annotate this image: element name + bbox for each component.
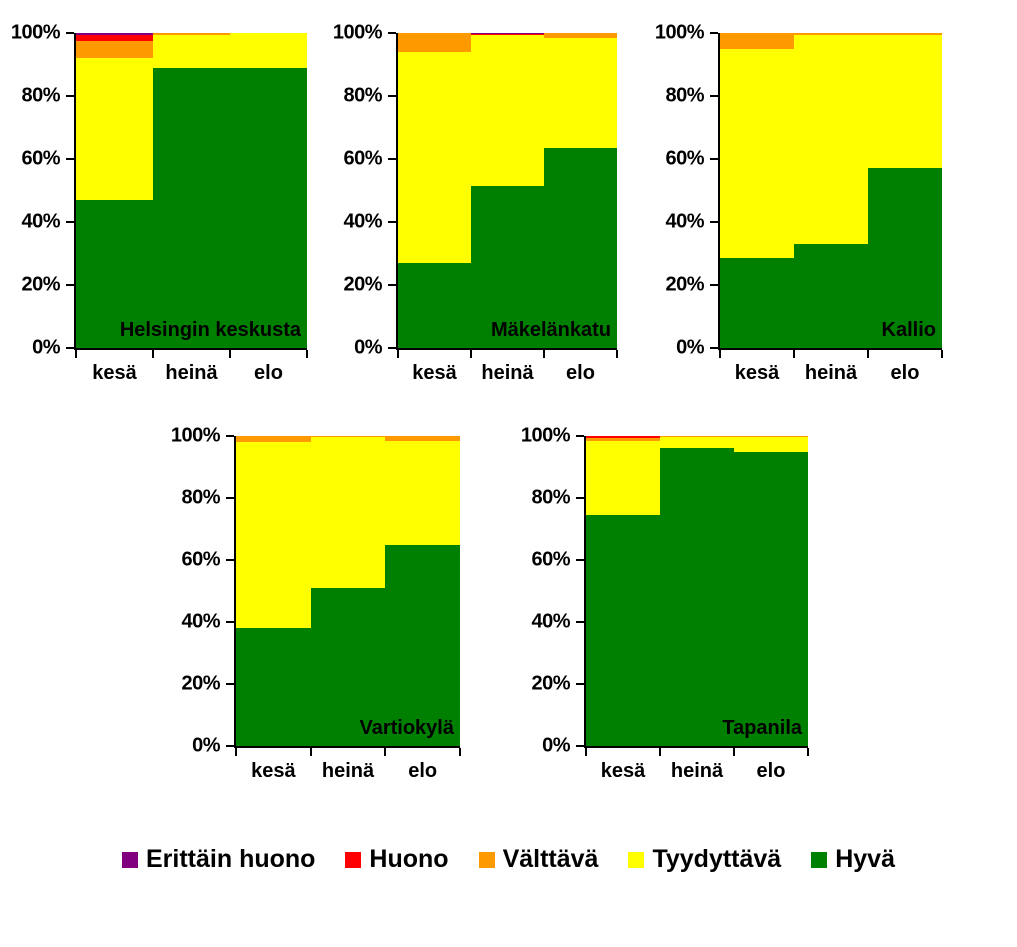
- segment-tyydyttävä: [734, 437, 808, 452]
- bar-heinä: [311, 436, 386, 746]
- chart-legend: Erittäin huonoHuonoVälttäväTyydyttäväHyv…: [0, 845, 1017, 874]
- y-tick-mark: [710, 284, 718, 286]
- x-tick-mark: [306, 350, 308, 358]
- x-tick-label-heinä: heinä: [805, 362, 857, 385]
- y-tick-label: 80%: [343, 85, 382, 108]
- legend-item-0: Erittäin huono: [122, 845, 315, 874]
- y-tick-label: 60%: [665, 148, 704, 171]
- y-tick-mark: [388, 347, 396, 349]
- x-tick-mark: [807, 748, 809, 756]
- segment-välttävä: [398, 33, 471, 52]
- segment-välttävä: [794, 33, 868, 35]
- chart-panel-3: 0%20%40%60%80%100%kesäheinäeloKallio: [720, 33, 942, 348]
- y-tick-mark: [226, 621, 234, 623]
- chart-sheet: 0%20%40%60%80%100%kesäheinäeloHelsingin …: [0, 0, 1017, 947]
- legend-swatch-erittäin-huono: [122, 852, 138, 868]
- y-tick-mark: [710, 95, 718, 97]
- y-tick-mark: [388, 95, 396, 97]
- x-tick-mark: [235, 748, 237, 756]
- segment-tyydyttävä: [230, 33, 307, 68]
- x-tick-label-kesä: kesä: [735, 362, 780, 385]
- chart-panel-1: 0%20%40%60%80%100%kesäheinäeloHelsingin …: [76, 33, 307, 348]
- legend-label-erittäin-huono: Erittäin huono: [146, 845, 315, 874]
- y-tick-mark: [226, 497, 234, 499]
- x-tick-label-heinä: heinä: [481, 362, 533, 385]
- x-axis-line: [718, 348, 942, 350]
- x-tick-mark: [719, 350, 721, 358]
- segment-tyydyttävä: [153, 35, 230, 68]
- y-tick-label: 80%: [181, 487, 220, 510]
- segment-hyvä: [398, 263, 471, 348]
- y-tick-label: 80%: [21, 85, 60, 108]
- x-tick-mark: [75, 350, 77, 358]
- bar-kesä: [76, 33, 153, 348]
- segment-tyydyttävä: [398, 52, 471, 263]
- y-tick-mark: [710, 347, 718, 349]
- y-tick-mark: [388, 221, 396, 223]
- y-tick-mark: [710, 221, 718, 223]
- y-tick-mark: [226, 683, 234, 685]
- y-tick-label: 80%: [665, 85, 704, 108]
- segment-hyvä: [660, 448, 734, 746]
- segment-hyvä: [720, 258, 794, 348]
- plot-area: [76, 33, 307, 348]
- x-axis-line: [234, 746, 460, 748]
- y-tick-mark: [66, 347, 74, 349]
- chart-panel-2: 0%20%40%60%80%100%kesäheinäeloMäkelänkat…: [398, 33, 617, 348]
- segment-hyvä: [794, 244, 868, 348]
- chart-panel-5: 0%20%40%60%80%100%kesäheinäeloTapanila: [586, 436, 808, 746]
- segment-hyvä: [734, 452, 808, 747]
- bar-kesä: [586, 436, 660, 746]
- y-tick-label: 100%: [655, 22, 704, 45]
- y-tick-label: 100%: [11, 22, 60, 45]
- bar-elo: [385, 436, 460, 746]
- segment-välttävä: [868, 33, 942, 35]
- segment-välttävä: [385, 436, 460, 441]
- y-tick-label: 20%: [665, 274, 704, 297]
- x-tick-label-kesä: kesä: [251, 760, 296, 783]
- y-tick-label: 40%: [665, 211, 704, 234]
- x-tick-mark: [585, 748, 587, 756]
- segment-hyvä: [544, 148, 617, 348]
- y-tick-mark: [66, 32, 74, 34]
- y-tick-label: 0%: [354, 337, 382, 360]
- x-tick-mark: [459, 748, 461, 756]
- segment-tyydyttävä: [471, 35, 544, 186]
- y-tick-label: 100%: [171, 425, 220, 448]
- y-tick-mark: [576, 745, 584, 747]
- legend-swatch-hyvä: [811, 852, 827, 868]
- x-tick-mark: [384, 748, 386, 756]
- y-tick-label: 20%: [343, 274, 382, 297]
- segment-välttävä: [544, 33, 617, 38]
- plot-area: [586, 436, 808, 746]
- x-tick-label-elo: elo: [757, 760, 786, 783]
- bar-kesä: [236, 436, 311, 746]
- x-tick-label-elo: elo: [254, 362, 283, 385]
- y-tick-mark: [388, 158, 396, 160]
- segment-tyydyttävä: [586, 441, 660, 515]
- x-tick-mark: [616, 350, 618, 358]
- y-tick-label: 20%: [21, 274, 60, 297]
- y-tick-mark: [576, 683, 584, 685]
- x-tick-mark: [152, 350, 154, 358]
- x-tick-label-heinä: heinä: [165, 362, 217, 385]
- legend-label-huono: Huono: [369, 845, 448, 874]
- y-tick-mark: [576, 435, 584, 437]
- bar-elo: [230, 33, 307, 348]
- legend-item-4: Hyvä: [811, 845, 895, 874]
- legend-swatch-huono: [345, 852, 361, 868]
- segment-tyydyttävä: [660, 437, 734, 448]
- segment-välttävä: [153, 33, 230, 35]
- segment-tyydyttävä: [311, 437, 386, 588]
- segment-erittäin-huono: [76, 33, 153, 35]
- y-tick-label: 40%: [343, 211, 382, 234]
- y-tick-label: 20%: [531, 673, 570, 696]
- segment-tyydyttävä: [544, 38, 617, 148]
- segment-tyydyttävä: [794, 35, 868, 244]
- y-tick-label: 60%: [181, 549, 220, 572]
- panel-title-3: Kallio: [882, 319, 936, 342]
- y-tick-mark: [388, 32, 396, 34]
- panel-title-2: Mäkelänkatu: [491, 319, 611, 342]
- segment-tyydyttävä: [720, 49, 794, 258]
- x-tick-label-elo: elo: [566, 362, 595, 385]
- segment-tyydyttävä: [868, 35, 942, 169]
- y-tick-label: 60%: [531, 549, 570, 572]
- legend-item-2: Välttävä: [479, 845, 599, 874]
- plot-area: [236, 436, 460, 746]
- plot-area: [720, 33, 942, 348]
- y-tick-label: 100%: [333, 22, 382, 45]
- x-tick-mark: [941, 350, 943, 358]
- y-tick-mark: [710, 32, 718, 34]
- bar-kesä: [398, 33, 471, 348]
- plot-area: [398, 33, 617, 348]
- y-tick-mark: [226, 745, 234, 747]
- x-tick-label-heinä: heinä: [322, 760, 374, 783]
- segment-hyvä: [236, 628, 311, 746]
- x-tick-label-kesä: kesä: [92, 362, 137, 385]
- segment-huono: [586, 436, 660, 438]
- y-tick-mark: [226, 559, 234, 561]
- y-tick-label: 40%: [531, 611, 570, 634]
- y-tick-mark: [66, 284, 74, 286]
- panel-title-1: Helsingin keskusta: [120, 319, 301, 342]
- segment-välttävä: [586, 438, 660, 441]
- bar-heinä: [471, 33, 544, 348]
- x-tick-label-heinä: heinä: [671, 760, 723, 783]
- x-axis-line: [396, 348, 617, 350]
- y-tick-label: 0%: [32, 337, 60, 360]
- segment-välttävä: [734, 436, 808, 437]
- segment-tyydyttävä: [76, 58, 153, 200]
- y-tick-label: 60%: [343, 148, 382, 171]
- x-tick-mark: [867, 350, 869, 358]
- y-tick-mark: [388, 284, 396, 286]
- segment-välttävä: [660, 436, 734, 437]
- x-tick-mark: [543, 350, 545, 358]
- x-tick-label-elo: elo: [408, 760, 437, 783]
- x-tick-mark: [470, 350, 472, 358]
- segment-välttävä: [76, 41, 153, 58]
- x-tick-label-kesä: kesä: [601, 760, 646, 783]
- bar-heinä: [794, 33, 868, 348]
- y-tick-label: 80%: [531, 487, 570, 510]
- segment-hyvä: [385, 545, 460, 747]
- legend-label-välttävä: Välttävä: [503, 845, 599, 874]
- segment-välttävä: [720, 33, 794, 49]
- y-tick-label: 0%: [192, 735, 220, 758]
- y-tick-label: 100%: [521, 425, 570, 448]
- x-tick-label-kesä: kesä: [412, 362, 457, 385]
- bar-elo: [544, 33, 617, 348]
- segment-huono: [76, 35, 153, 41]
- x-tick-mark: [229, 350, 231, 358]
- segment-välttävä: [236, 436, 311, 442]
- bar-kesä: [720, 33, 794, 348]
- y-tick-label: 60%: [21, 148, 60, 171]
- legend-item-3: Tyydyttävä: [628, 845, 781, 874]
- x-axis-line: [74, 348, 307, 350]
- y-tick-mark: [576, 621, 584, 623]
- segment-välttävä: [311, 436, 386, 437]
- y-tick-mark: [66, 221, 74, 223]
- x-tick-label-elo: elo: [891, 362, 920, 385]
- segment-hyvä: [586, 515, 660, 746]
- segment-hyvä: [153, 68, 230, 348]
- y-tick-label: 0%: [676, 337, 704, 360]
- x-tick-mark: [397, 350, 399, 358]
- y-tick-mark: [66, 95, 74, 97]
- y-tick-label: 20%: [181, 673, 220, 696]
- x-tick-mark: [310, 748, 312, 756]
- y-tick-label: 40%: [21, 211, 60, 234]
- x-tick-mark: [659, 748, 661, 756]
- x-axis-line: [584, 746, 808, 748]
- bar-elo: [734, 436, 808, 746]
- legend-swatch-tyydyttävä: [628, 852, 644, 868]
- x-tick-mark: [733, 748, 735, 756]
- segment-erittäin-huono: [471, 33, 544, 34]
- bar-heinä: [660, 436, 734, 746]
- segment-tyydyttävä: [236, 442, 311, 628]
- y-tick-mark: [576, 497, 584, 499]
- segment-hyvä: [230, 68, 307, 348]
- segment-tyydyttävä: [385, 441, 460, 545]
- legend-swatch-välttävä: [479, 852, 495, 868]
- y-tick-mark: [576, 559, 584, 561]
- bar-heinä: [153, 33, 230, 348]
- x-tick-mark: [793, 350, 795, 358]
- y-tick-label: 0%: [542, 735, 570, 758]
- y-tick-mark: [66, 158, 74, 160]
- y-tick-mark: [710, 158, 718, 160]
- legend-label-tyydyttävä: Tyydyttävä: [652, 845, 781, 874]
- panel-title-5: Tapanila: [722, 717, 802, 740]
- legend-item-1: Huono: [345, 845, 448, 874]
- bar-elo: [868, 33, 942, 348]
- panel-title-4: Vartiokylä: [359, 717, 454, 740]
- chart-panel-4: 0%20%40%60%80%100%kesäheinäeloVartiokylä: [236, 436, 460, 746]
- y-tick-label: 40%: [181, 611, 220, 634]
- legend-label-hyvä: Hyvä: [835, 845, 895, 874]
- y-tick-mark: [226, 435, 234, 437]
